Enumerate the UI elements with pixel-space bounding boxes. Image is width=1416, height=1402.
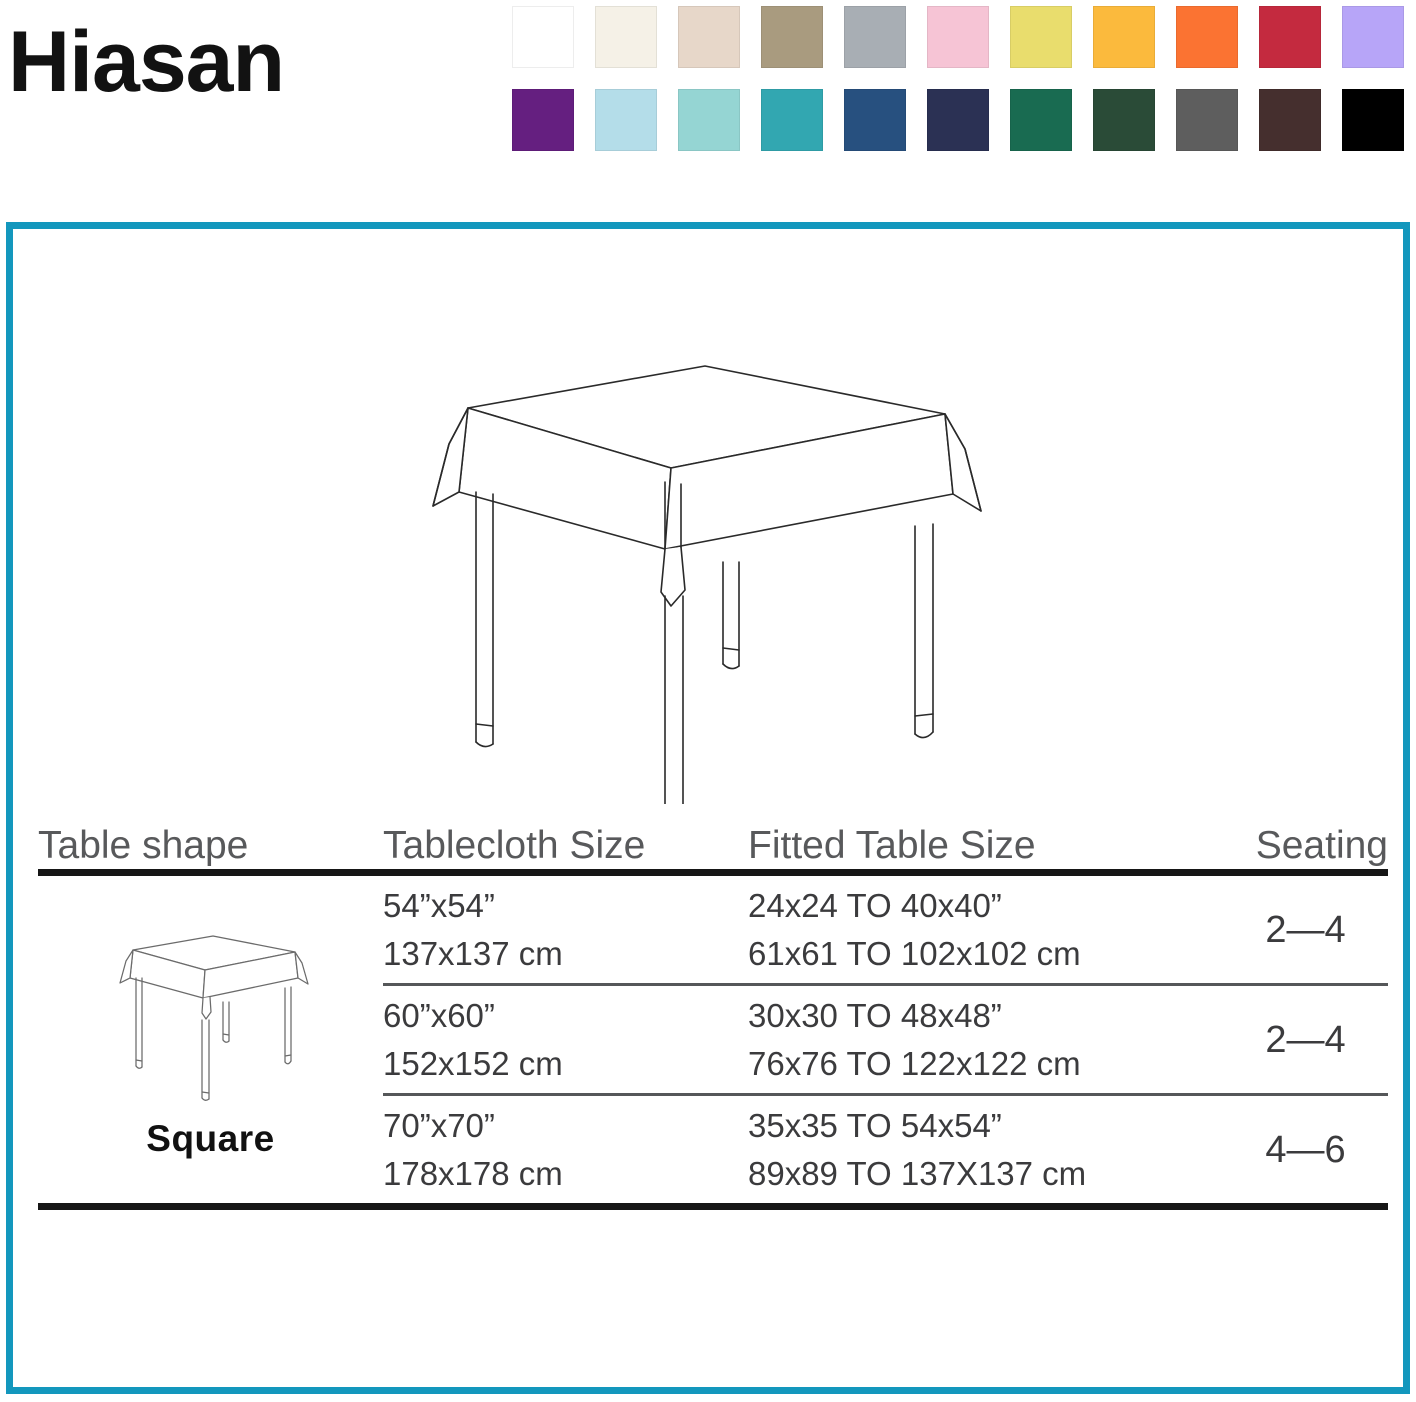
color-swatch-orange[interactable] (1176, 6, 1238, 68)
color-swatch-lavender[interactable] (1342, 6, 1404, 68)
fitted-table-size-cell: 24x24 TO 40x40” 61x61 TO 102x102 cm (748, 882, 1223, 978)
brand-logo: Hiasan (8, 12, 284, 112)
fitted-size-inches: 35x35 TO 54x54” (748, 1102, 1223, 1150)
fitted-size-cm: 61x61 TO 102x102 cm (748, 930, 1223, 978)
color-swatch-light-blue[interactable] (595, 89, 657, 151)
table-row: 54”x54” 137x137 cm 24x24 TO 40x40” 61x61… (38, 876, 1388, 983)
tablecloth-size-cell: 60”x60” 152x152 cm (383, 992, 748, 1088)
color-swatch-navy[interactable] (927, 89, 989, 151)
color-swatch-golden-yellow[interactable] (1093, 6, 1155, 68)
tablecloth-size-inches: 54”x54” (383, 882, 748, 930)
table-bottom-divider (38, 1203, 1388, 1210)
seating-cell: 2—4 (1223, 1016, 1388, 1064)
header-band: Hiasan (0, 0, 1416, 205)
color-swatch-emerald[interactable] (1010, 89, 1072, 151)
tablecloth-size-inches: 60”x60” (383, 992, 748, 1040)
color-swatch-row-1 (512, 6, 1408, 68)
tablecloth-size-cm: 137x137 cm (383, 930, 748, 978)
tablecloth-size-cell: 70”x70” 178x178 cm (383, 1102, 748, 1198)
tablecloth-size-cell: 54”x54” 137x137 cm (383, 882, 748, 978)
tablecloth-size-cm: 152x152 cm (383, 1040, 748, 1088)
column-header-seating: Seating (1223, 823, 1388, 869)
color-swatch-row-2 (512, 89, 1408, 151)
color-swatch-beige[interactable] (678, 6, 740, 68)
fitted-size-cm: 89x89 TO 137X137 cm (748, 1150, 1223, 1198)
color-swatch-purple[interactable] (512, 89, 574, 151)
color-swatch-forest-green[interactable] (1093, 89, 1155, 151)
fitted-size-cm: 76x76 TO 122x122 cm (748, 1040, 1223, 1088)
fitted-table-size-cell: 30x30 TO 48x48” 76x76 TO 122x122 cm (748, 992, 1223, 1088)
tablecloth-size-cm: 178x178 cm (383, 1150, 748, 1198)
color-swatch-yellow[interactable] (1010, 6, 1072, 68)
column-header-tablecloth-size: Tablecloth Size (383, 823, 748, 869)
color-swatch-pink[interactable] (927, 6, 989, 68)
color-swatch-gray[interactable] (844, 6, 906, 68)
color-swatch-red[interactable] (1259, 6, 1321, 68)
color-swatch-cream[interactable] (595, 6, 657, 68)
seating-cell: 4—6 (1223, 1126, 1388, 1174)
header-divider (38, 869, 1388, 876)
seating-cell: 2—4 (1223, 906, 1388, 954)
table-header-row: Table shape Tablecloth Size Fitted Table… (38, 807, 1388, 869)
color-swatch-teal[interactable] (761, 89, 823, 151)
color-swatch-grid (512, 6, 1408, 151)
color-swatch-black[interactable] (1342, 89, 1404, 151)
table-row: 70”x70” 178x178 cm 35x35 TO 54x54” 89x89… (38, 1096, 1388, 1203)
column-header-table-shape: Table shape (38, 823, 383, 869)
color-swatch-dark-brown[interactable] (1259, 89, 1321, 151)
color-swatch-dark-gray[interactable] (1176, 89, 1238, 151)
color-swatch-aqua[interactable] (678, 89, 740, 151)
table-row: 60”x60” 152x152 cm 30x30 TO 48x48” 76x76… (38, 986, 1388, 1093)
color-swatch-royal-blue[interactable] (844, 89, 906, 151)
color-swatch-taupe[interactable] (761, 6, 823, 68)
fitted-table-size-cell: 35x35 TO 54x54” 89x89 TO 137X137 cm (748, 1102, 1223, 1198)
tablecloth-size-inches: 70”x70” (383, 1102, 748, 1150)
fitted-size-inches: 30x30 TO 48x48” (748, 992, 1223, 1040)
column-header-fitted-table-size: Fitted Table Size (748, 823, 1223, 869)
fitted-size-inches: 24x24 TO 40x40” (748, 882, 1223, 930)
size-guide-panel: Table shape Tablecloth Size Fitted Table… (6, 222, 1410, 1394)
size-specification-table: Table shape Tablecloth Size Fitted Table… (38, 807, 1388, 1210)
square-table-illustration (393, 334, 1013, 804)
color-swatch-white[interactable] (512, 6, 574, 68)
table-body: Square 54”x54” 137x137 cm 24x24 TO 40x40… (38, 876, 1388, 1203)
